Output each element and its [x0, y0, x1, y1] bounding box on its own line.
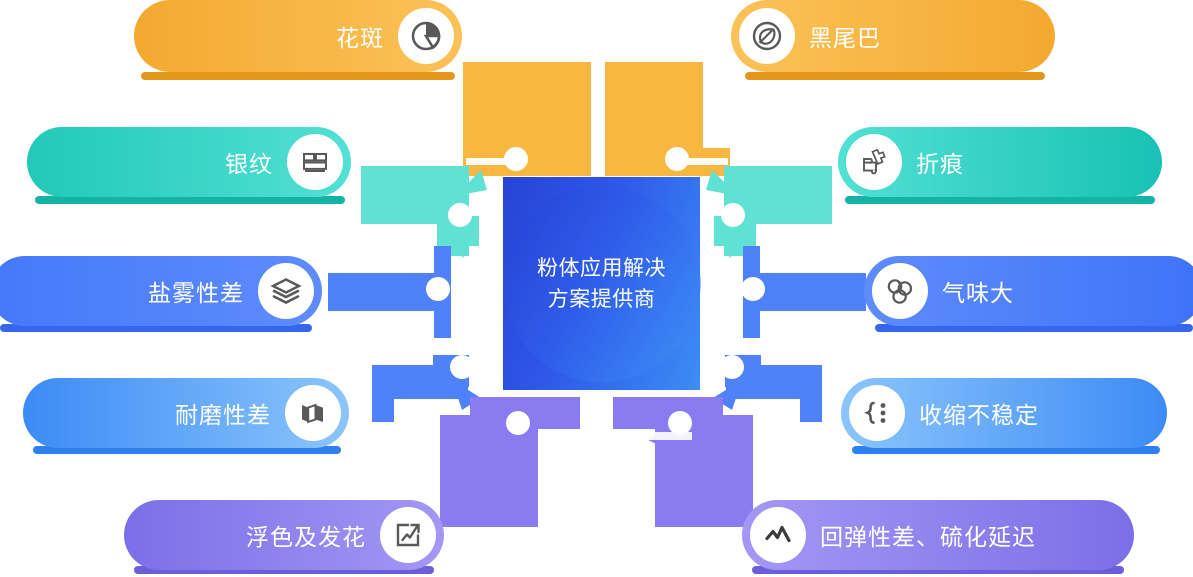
connector-huaban: [463, 62, 591, 181]
pill-shadow-huaban: [141, 72, 455, 80]
diagram-canvas: 粉体应用解决 方案提供商 花斑 黑尾巴 银纹: [0, 0, 1193, 577]
connector-fusejifahua: [440, 397, 580, 527]
node-huaban[interactable]: 花斑: [134, 0, 462, 72]
connector-qiweida: [741, 246, 866, 338]
connector-yinwen: [361, 166, 487, 258]
node-qiweida[interactable]: 气味大: [864, 256, 1193, 326]
pill-shadow-zhehen: [845, 196, 1155, 204]
connector-zhehen: [706, 166, 832, 258]
leaf-icon: [739, 8, 795, 64]
node-shousuobuwending[interactable]: 收缩不稳定: [841, 378, 1167, 448]
node-fusejifahua[interactable]: 浮色及发花: [124, 500, 444, 570]
node-naimoxingcha[interactable]: 耐磨性差: [23, 378, 349, 448]
sitemap-icon: [849, 385, 905, 441]
brick-wall-icon: [287, 134, 343, 190]
pie-chart-icon: [398, 8, 454, 64]
node-yanwuxingcha[interactable]: 盐雾性差: [0, 256, 322, 326]
node-label-zhehen: 折痕: [916, 145, 964, 179]
pill-shadow-yinwen: [35, 196, 345, 204]
zigzag-line-icon: [750, 507, 806, 563]
node-huitanxingcha[interactable]: 回弹性差、硫化延迟: [742, 500, 1134, 570]
node-label-heiweiba: 黑尾巴: [809, 19, 881, 53]
recycle-icon: [872, 263, 928, 319]
node-label-yinwen: 银纹: [225, 145, 273, 179]
node-label-huitanxingcha: 回弹性差、硫化延迟: [820, 518, 1036, 552]
trend-box-icon: [380, 507, 436, 563]
node-label-fusejifahua: 浮色及发花: [246, 518, 366, 552]
node-yinwen[interactable]: 银纹: [27, 127, 351, 197]
connector-yanwuxingcha: [328, 246, 451, 338]
connector-shousuobuwending: [713, 355, 822, 422]
pill-shadow-heiweiba: [745, 72, 1045, 80]
node-heiweiba[interactable]: 黑尾巴: [731, 0, 1055, 72]
layers-icon: [258, 263, 314, 319]
puzzle-piece-icon: [846, 134, 902, 190]
connector-heiweiba: [605, 62, 730, 181]
center-title: 粉体应用解决 方案提供商: [503, 253, 700, 315]
connector-huitanxingcha: [613, 397, 753, 527]
node-label-huaban: 花斑: [336, 19, 384, 53]
center-node: 粉体应用解决 方案提供商: [503, 177, 700, 390]
node-label-naimoxingcha: 耐磨性差: [175, 396, 271, 430]
node-label-qiweida: 气味大: [942, 274, 1014, 308]
node-zhehen[interactable]: 折痕: [838, 127, 1162, 197]
open-book-icon: [285, 385, 341, 441]
connector-naimoxingcha: [372, 355, 481, 422]
node-label-yanwuxingcha: 盐雾性差: [148, 274, 244, 308]
node-label-shousuobuwending: 收缩不稳定: [919, 396, 1039, 430]
